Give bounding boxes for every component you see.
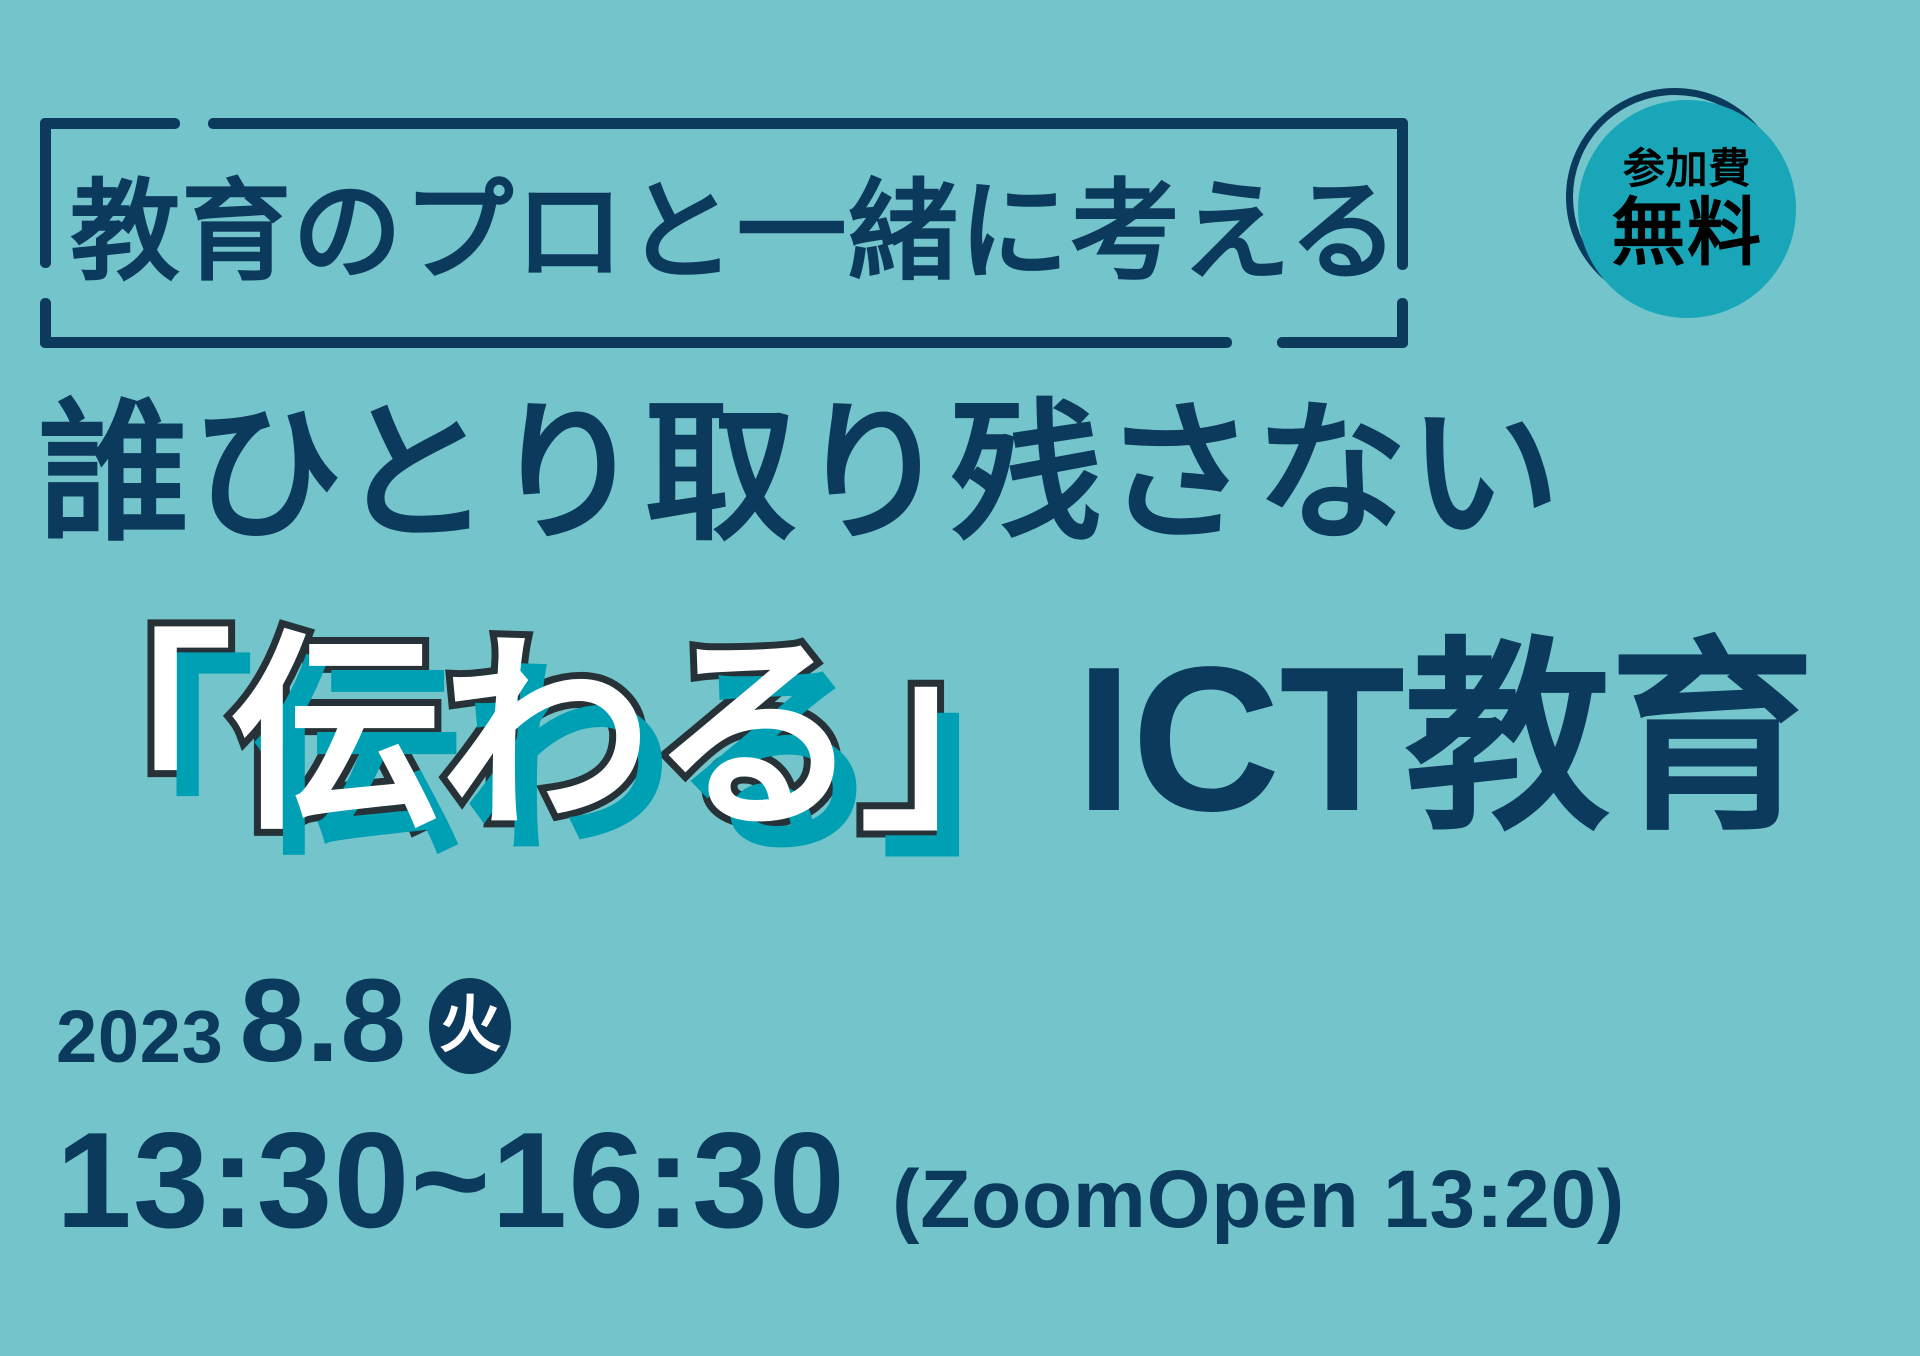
event-time: 13:30~16:30 (ZoomOpen 13:20) — [56, 1112, 1625, 1248]
zoom-open-note: (ZoomOpen 13:20) — [892, 1159, 1625, 1241]
badge-free-label: 無料 — [1612, 196, 1763, 270]
event-poster: 教育のプロと一緒に考える 参加費 無料 誰ひとり取り残さない 「伝わる」 ICT… — [0, 0, 1920, 1356]
free-admission-badge: 参加費 無料 — [1566, 88, 1796, 318]
title-outlined-part: 「伝わる」 — [20, 630, 1069, 842]
badge-circle: 参加費 無料 — [1578, 100, 1796, 318]
frame-left-upper-line — [40, 118, 51, 268]
headline-text: 誰ひとり取り残さない — [38, 398, 1561, 550]
date-day: 8.8 — [240, 962, 408, 1080]
badge-fee-label: 参加費 — [1623, 148, 1752, 190]
frame-bottom-right-stub — [1277, 337, 1408, 348]
title-solid-part: ICT教育 — [1075, 636, 1814, 842]
date-year: 2023 — [56, 1000, 224, 1080]
event-date: 2023 8.8 火 — [56, 962, 511, 1080]
kicker-text: 教育のプロと一緒に考える — [70, 128, 1370, 338]
time-range: 13:30~16:30 — [56, 1112, 846, 1248]
main-title: 「伝わる」 ICT教育 — [20, 612, 1920, 842]
day-of-week-badge: 火 — [429, 978, 511, 1074]
frame-bottom-line — [40, 337, 1232, 348]
frame-right-lower-line — [1397, 298, 1408, 348]
